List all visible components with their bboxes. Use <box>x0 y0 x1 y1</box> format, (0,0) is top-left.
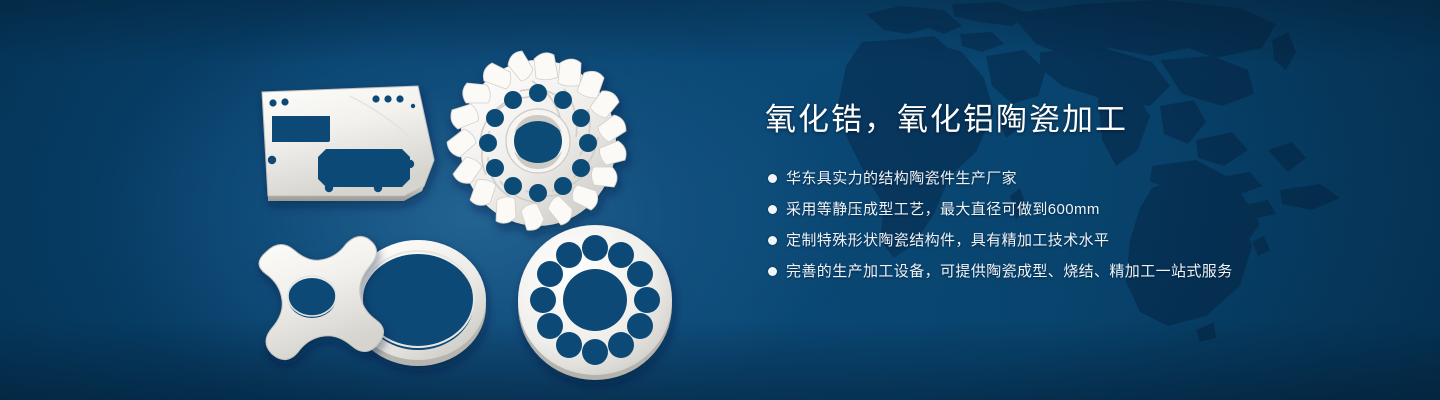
ceramic-plate-part <box>262 86 434 201</box>
list-item: 定制特殊形状陶瓷结构件，具有精加工技术水平 <box>765 229 1385 252</box>
bullet-dot-icon <box>768 236 777 245</box>
bullet-dot-icon <box>768 267 777 276</box>
list-item: 完善的生产加工设备，可提供陶瓷成型、烧结、精加工一站式服务 <box>765 260 1385 283</box>
bullet-dot-icon <box>768 205 777 214</box>
feature-text: 完善的生产加工设备，可提供陶瓷成型、烧结、精加工一站式服务 <box>786 260 1233 283</box>
feature-text: 采用等静压成型工艺，最大直径可做到600mm <box>786 198 1100 221</box>
list-item: 采用等静压成型工艺，最大直径可做到600mm <box>765 198 1385 221</box>
ceramic-product-banner: 氧化锆，氧化铝陶瓷加工 华东具实力的结构陶瓷件生产厂家 采用等静压成型工艺，最大… <box>0 0 1440 400</box>
ceramic-perforated-disc-part <box>518 225 672 380</box>
ceramic-impeller-part <box>447 51 626 230</box>
bullet-dot-icon <box>768 174 777 183</box>
feature-text: 定制特殊形状陶瓷结构件，具有精加工技术水平 <box>786 229 1109 252</box>
page-title: 氧化锆，氧化铝陶瓷加工 <box>765 104 1385 135</box>
ceramic-products-group <box>0 0 720 400</box>
list-item: 华东具实力的结构陶瓷件生产厂家 <box>765 167 1385 190</box>
banner-copy-block: 氧化锆，氧化铝陶瓷加工 华东具实力的结构陶瓷件生产厂家 采用等静压成型工艺，最大… <box>765 104 1385 283</box>
feature-list: 华东具实力的结构陶瓷件生产厂家 采用等静压成型工艺，最大直径可做到600mm 定… <box>765 167 1385 283</box>
feature-text: 华东具实力的结构陶瓷件生产厂家 <box>786 167 1017 190</box>
